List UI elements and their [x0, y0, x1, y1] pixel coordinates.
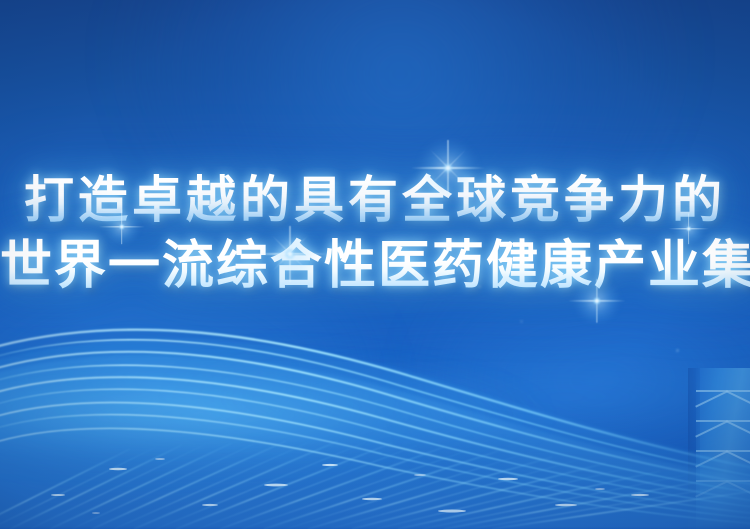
- background-glow-left: [0, 230, 360, 529]
- sparkle-icon: [447, 167, 448, 168]
- sparkle-icon: [121, 226, 122, 227]
- wave-lines-graphic: [0, 299, 750, 529]
- wave-band-2: [0, 330, 750, 490]
- wave-band-1: [0, 300, 750, 450]
- bottom-sheen: [0, 409, 750, 529]
- headline-line-1: 打造卓越的具有全球竞争力的: [0, 168, 750, 232]
- tower-shadow-edge: [688, 368, 700, 529]
- background-glow-top: [120, 0, 680, 250]
- tower-chevron: [696, 450, 750, 452]
- sparkle-icon: [688, 228, 689, 229]
- tower-chevron: [696, 420, 750, 422]
- wave-band-3: [0, 368, 750, 488]
- headline-line-2: 世界一流综合性医药健康产业集团: [0, 232, 750, 302]
- tower-chevron: [696, 390, 750, 392]
- sparkle-icon: [289, 253, 290, 254]
- tower-body: [696, 368, 750, 529]
- tower-chevron: [696, 480, 750, 482]
- background-glow-right: [430, 250, 750, 510]
- light-speck: [676, 349, 679, 352]
- tower-fade-overlay: [688, 368, 750, 529]
- light-speck: [478, 285, 481, 288]
- tower-graphic: [688, 368, 750, 529]
- vignette-overlay: [0, 0, 750, 529]
- light-speck: [520, 320, 523, 323]
- headline-block: 打造卓越的具有全球竞争力的 世界一流综合性医药健康产业集团: [0, 168, 750, 302]
- corporate-vision-banner: 打造卓越的具有全球竞争力的 世界一流综合性医药健康产业集团: [0, 0, 750, 529]
- sparkle-icon: [596, 300, 597, 301]
